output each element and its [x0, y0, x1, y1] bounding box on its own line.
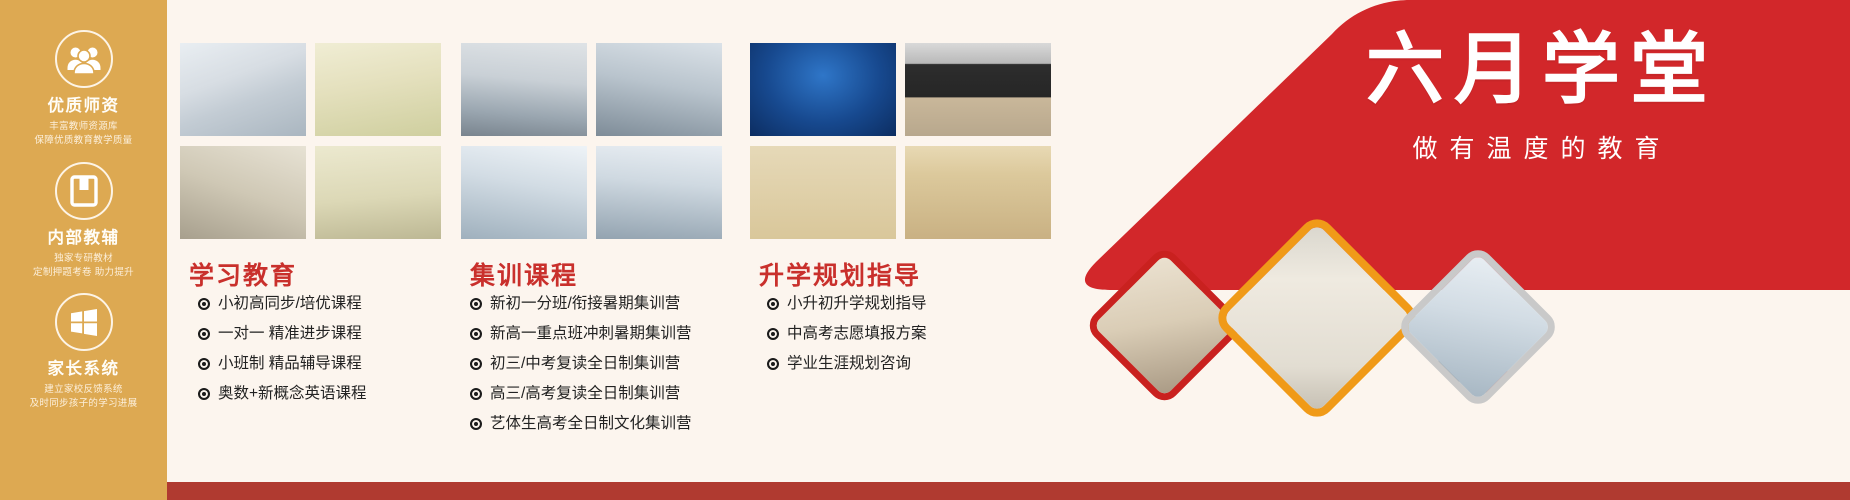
brand-tagline: 做有温度的教育	[1262, 129, 1822, 165]
list-item: 艺体生高考全日制文化集训营	[470, 413, 692, 436]
sidebar-feature-sub: 独家专研教材 定制押题考卷 助力提升	[33, 252, 134, 280]
bullet-icon	[767, 298, 779, 310]
bullet-icon	[470, 298, 482, 310]
sidebar-feature-1: 内部教辅 独家专研教材 定制押题考卷 助力提升	[0, 162, 167, 280]
bullet-icon	[470, 388, 482, 400]
photo-classroom-windows	[596, 146, 722, 239]
bullet-icon	[198, 358, 210, 370]
photo-whiteboard-tutoring	[180, 43, 306, 136]
sidebar-feature-sub: 丰富教师资源库 保障优质教育教学质量	[34, 120, 132, 148]
list-item: 新高一重点班冲刺暑期集训营	[470, 323, 692, 346]
sidebar-feature-sub-line2: 定制押题考卷 助力提升	[33, 266, 134, 280]
list-item: 小班制 精品辅导课程	[198, 353, 367, 376]
column-list-2: 新初一分班/衔接暑期集训营 新高一重点班冲刺暑期集训营 初三/中考复读全日制集训…	[470, 293, 692, 443]
list-item: 小升初升学规划指导	[767, 293, 927, 316]
bullet-icon	[198, 328, 210, 340]
sidebar-feature-sub-line1: 丰富教师资源库	[34, 120, 132, 134]
photo-tv-studio-interview	[750, 43, 896, 136]
list-item-label: 小班制 精品辅导课程	[218, 353, 362, 376]
sidebar-feature-title: 内部教辅	[48, 229, 120, 247]
photo-smartboard-presentation	[750, 146, 896, 239]
list-item: 小初高同步/培优课程	[198, 293, 367, 316]
list-item-label: 奥数+新概念英语课程	[218, 383, 367, 406]
photo-grid-column-3	[750, 43, 1055, 238]
photo-female-teacher-projector	[315, 146, 441, 239]
sidebar-feature-title: 优质师资	[48, 97, 120, 115]
bottom-accent-bar	[167, 482, 1850, 500]
photo-grid-column-2	[461, 43, 731, 238]
photo-large-classroom-back	[461, 43, 587, 136]
sidebar-feature-sub-line2: 保障优质教育教学质量	[34, 134, 132, 148]
list-item: 高三/高考复读全日制集训营	[470, 383, 692, 406]
column-heading-3: 升学规划指导	[759, 256, 921, 292]
brand-block: 六月学堂 做有温度的教育	[1262, 26, 1822, 165]
list-item-label: 小初高同步/培优课程	[218, 293, 362, 316]
list-item: 奥数+新概念英语课程	[198, 383, 367, 406]
bullet-icon	[470, 358, 482, 370]
list-item-label: 高三/高考复读全日制集训营	[490, 383, 680, 406]
sidebar-feature-title: 家长系统	[48, 360, 120, 378]
bullet-icon	[470, 418, 482, 430]
bullet-icon	[767, 328, 779, 340]
banner-root: 优质师资 丰富教师资源库 保障优质教育教学质量 内部教辅 独家专研教材 定制押题…	[0, 0, 1850, 500]
book-icon	[55, 162, 113, 220]
list-item-label: 中高考志愿填报方案	[787, 323, 927, 346]
list-item-label: 新高一重点班冲刺暑期集训营	[490, 323, 692, 346]
bullet-icon	[198, 388, 210, 400]
list-item: 一对一 精准进步课程	[198, 323, 367, 346]
photo-one-on-one-desk	[180, 146, 306, 239]
photo-lecture-hall-raised-hand	[596, 43, 722, 136]
list-item: 中高考志愿填报方案	[767, 323, 927, 346]
sidebar-feature-sub-line1: 建立家校反馈系统	[30, 383, 138, 397]
list-item-label: 艺体生高考全日制文化集训营	[490, 413, 692, 436]
brand-title: 六月学堂	[1262, 26, 1822, 113]
sidebar-feature-2: 家长系统 建立家校反馈系统 及时同步孩子的学习进展	[0, 293, 167, 411]
list-item-label: 初三/中考复读全日制集训营	[490, 353, 680, 376]
sidebar-feature-sub-line1: 独家专研教材	[33, 252, 134, 266]
sidebar-feature-sub: 建立家校反馈系统 及时同步孩子的学习进展	[30, 383, 138, 411]
column-list-1: 小初高同步/培优课程 一对一 精准进步课程 小班制 精品辅导课程 奥数+新概念英…	[198, 293, 367, 413]
photo-grid-column-1	[180, 43, 450, 238]
list-item: 新初一分班/衔接暑期集训营	[470, 293, 692, 316]
sidebar-feature-0: 优质师资 丰富教师资源库 保障优质教育教学质量	[0, 30, 167, 148]
sidebar: 优质师资 丰富教师资源库 保障优质教育教学质量 内部教辅 独家专研教材 定制押题…	[0, 0, 167, 500]
photo-staff-group-red-screen	[905, 146, 1051, 239]
bullet-icon	[198, 298, 210, 310]
list-item-label: 小升初升学规划指导	[787, 293, 927, 316]
main-content: 六月学堂 做有温度的教育	[167, 0, 1850, 500]
list-item-label: 新初一分班/衔接暑期集训营	[490, 293, 680, 316]
list-item-label: 一对一 精准进步课程	[218, 323, 362, 346]
column-heading-2: 集训课程	[470, 256, 578, 292]
bullet-icon	[767, 358, 779, 370]
people-group-icon	[55, 30, 113, 88]
photo-projector-lecture	[461, 146, 587, 239]
column-list-3: 小升初升学规划指导 中高考志愿填报方案 学业生涯规划咨询	[767, 293, 927, 383]
list-item: 学业生涯规划咨询	[767, 353, 927, 376]
photo-teacher-front-class	[315, 43, 441, 136]
sidebar-feature-sub-line2: 及时同步孩子的学习进展	[30, 397, 138, 411]
bullet-icon	[470, 328, 482, 340]
photo-group-photo-school-banner	[905, 43, 1051, 136]
list-item-label: 学业生涯规划咨询	[787, 353, 911, 376]
windows-grid-icon	[55, 293, 113, 351]
column-heading-1: 学习教育	[189, 256, 297, 292]
list-item: 初三/中考复读全日制集训营	[470, 353, 692, 376]
